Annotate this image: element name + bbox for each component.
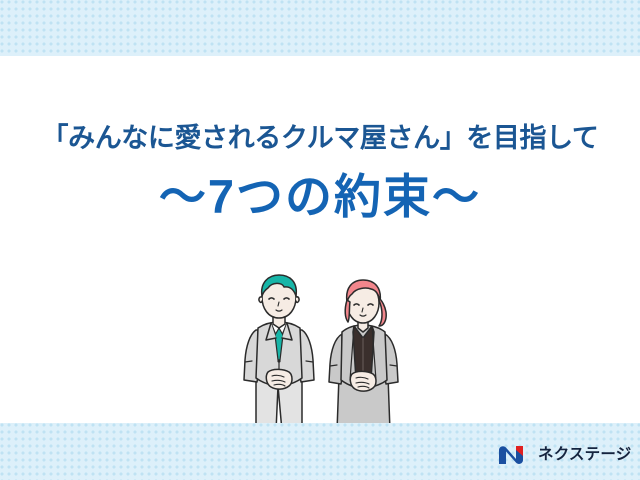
headline-primary-line: 「みんなに愛されるクルマ屋さん」を目指して — [0, 118, 640, 158]
female-staff-figure — [329, 280, 398, 431]
staff-illustration — [238, 268, 414, 433]
brand-name-label: ネクステージ — [538, 445, 631, 465]
male-staff-figure — [244, 275, 314, 431]
brand-logo: ネクステージ — [497, 440, 625, 470]
headline-secondary-line: 〜7つの約束〜 — [0, 168, 640, 226]
promotional-banner: 「みんなに愛されるクルマ屋さん」を目指して 〜7つの約束〜 — [0, 0, 640, 480]
nextage-n-logo-icon — [497, 443, 531, 467]
staff-illustration-graphic — [238, 268, 414, 433]
headline-block: 「みんなに愛されるクルマ屋さん」を目指して 〜7つの約束〜 — [0, 118, 640, 226]
top-dot-band — [0, 0, 640, 56]
